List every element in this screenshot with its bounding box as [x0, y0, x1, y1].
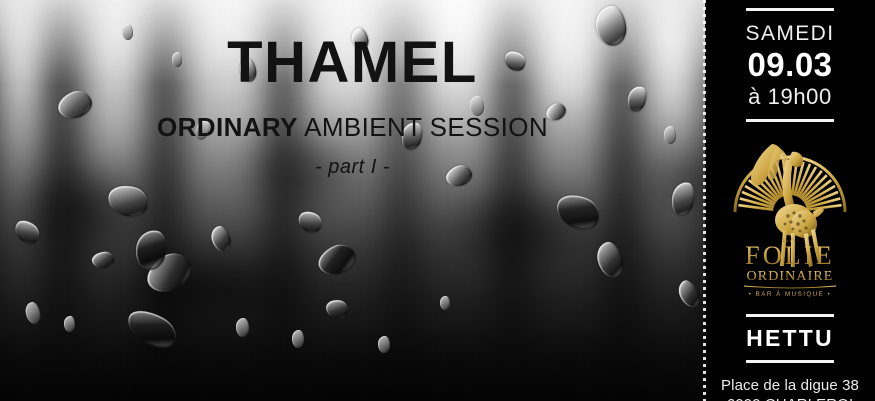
raindrop — [552, 189, 605, 235]
performer-block: HETTU — [705, 314, 875, 363]
event-title-block: THAMEL ORDINARY AMBIENT SESSION - part I… — [0, 34, 705, 179]
raindrop — [208, 224, 233, 254]
raindrop — [11, 216, 44, 248]
raindrop — [236, 318, 249, 337]
venue-address: Place de la digue 38 6000 CHARLEROI — [705, 376, 875, 401]
divider-below-performer — [746, 360, 834, 363]
raindrop — [669, 180, 698, 218]
address-line-1: Place de la digue 38 — [705, 376, 875, 395]
part-label: - part I - — [0, 156, 705, 179]
logo-word-main: FOLIE — [745, 241, 835, 270]
ticket-stub: SAMEDI 09.03 à 19h00 — [705, 0, 875, 401]
event-poster: THAMEL ORDINARY AMBIENT SESSION - part I… — [0, 0, 875, 401]
raindrop — [24, 301, 42, 325]
logo-word-sub: ORDINAIRE — [747, 269, 834, 284]
raindrop — [292, 330, 304, 348]
event-time: à 19h00 — [705, 84, 875, 109]
divider-under-date — [746, 119, 834, 122]
raindrop — [295, 207, 326, 236]
raindrop — [440, 296, 450, 310]
raindrop — [314, 239, 360, 280]
raindrop — [122, 304, 182, 355]
raindrop — [378, 336, 390, 353]
raindrop — [91, 251, 115, 270]
ticket-perforation — [703, 0, 706, 401]
artist-title: THAMEL — [0, 34, 705, 92]
logo-tagline: • BAR À MUSIQUE • — [749, 291, 831, 298]
venue-logo: LA FOLIE ORDINAIRE • BAR À MUSIQUE • — [714, 138, 866, 298]
raindrop — [675, 277, 703, 310]
session-title-rest: AMBIENT SESSION — [298, 112, 548, 142]
raindrop — [105, 182, 151, 221]
divider-above-performer — [746, 314, 834, 317]
raindrop — [594, 239, 627, 280]
session-title-strong: ORDINARY — [157, 112, 298, 142]
session-title: ORDINARY AMBIENT SESSION — [0, 114, 705, 140]
event-day: SAMEDI — [705, 22, 875, 45]
event-date: 09.03 — [705, 47, 875, 83]
performer-name: HETTU — [705, 326, 875, 351]
address-line-2: 6000 CHARLEROI — [705, 395, 875, 401]
raindrop — [64, 316, 75, 332]
raindrop — [325, 298, 350, 320]
divider-top — [746, 8, 834, 11]
